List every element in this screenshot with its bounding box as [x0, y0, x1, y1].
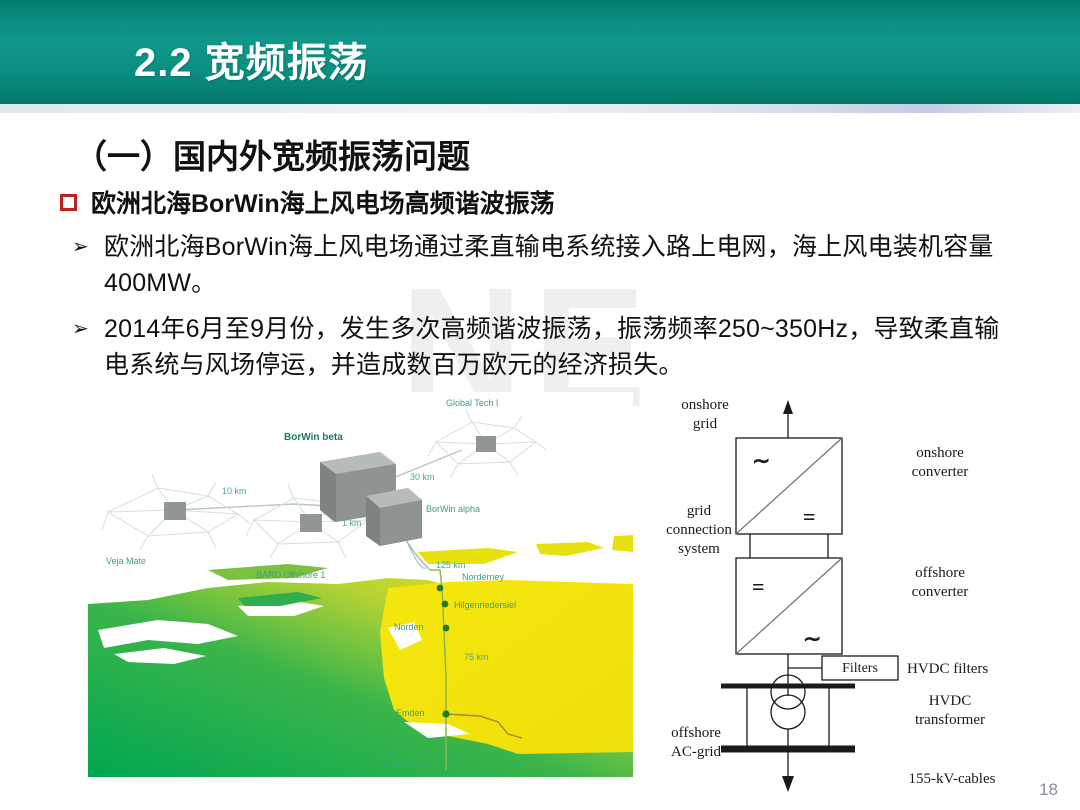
slide-header-band: 2.2 宽频振荡 [0, 0, 1080, 104]
map-platform-borwin-alpha [366, 488, 422, 546]
dc-symbol-offshore: = [752, 574, 765, 599]
page-title: 2.2 宽频振荡 [134, 30, 369, 88]
map-label-bard-offshore: BARD Offshore 1 [256, 570, 325, 580]
map-label-borwin-alpha: BorWin alpha [426, 504, 480, 514]
map-substation-bard [300, 514, 322, 532]
map-svg: Veja Mate BARD Offshore 1 Global Tech I … [88, 392, 633, 777]
map-substation-globaltech [476, 436, 496, 452]
map-place-norderney: Norderney [462, 572, 505, 582]
list-item-text: 欧洲北海BorWin海上风电场通过柔直输电系统接入路上电网，海上风电装机容量40… [104, 230, 1002, 301]
list-item-text: 2014年6月至9月份，发生多次高频谐波振荡，振荡频率250~350Hz，导致柔… [104, 312, 1017, 383]
map-label-veja-mate: Veja Mate [106, 556, 146, 566]
map-distance-10km: 10 km [222, 486, 247, 496]
hvdc-circuit-diagram: ∼ = = ∼ onshore grid onshore converter [655, 392, 1075, 792]
dc-symbol-onshore: = [803, 504, 816, 529]
sub-heading-row: 欧洲北海BorWin海上风电场高频谐波振荡 [60, 184, 555, 220]
map-distance-75km: 75 km [464, 652, 489, 662]
label-offshore-ac-grid: offshore AC-grid [641, 724, 751, 762]
map-distance-30km: 30 km [410, 472, 435, 482]
map-substation-veja [164, 502, 186, 520]
label-hvdc-filters: HVDC filters [907, 660, 1037, 679]
label-grid-connection-system: grid connection system [633, 502, 765, 558]
slide: 2.2 宽频振荡 NE www.niudunyan.com （一）国内外宽频振荡… [0, 0, 1080, 810]
list-item: ➢ 欧洲北海BorWin海上风电场通过柔直输电系统接入路上电网，海上风电装机容量… [72, 230, 1002, 301]
filters-box-label: Filters [829, 660, 891, 678]
label-offshore-converter: offshore converter [870, 564, 1010, 602]
offshore-converter-diagonal [736, 558, 842, 654]
map-place-umspannwerk: Umspannwerk [374, 760, 432, 770]
section-heading: （一）国内外宽频振荡问题 [74, 130, 470, 178]
owf-arrow-icon [782, 776, 794, 792]
square-bullet-icon [60, 194, 77, 211]
map-place-emden: Emden [396, 708, 425, 718]
map-landmass [88, 535, 633, 777]
map-distance-1km: 1 km [342, 518, 362, 528]
map-label-global-tech: Global Tech I [446, 398, 498, 408]
arrow-bullet-icon: ➢ [72, 319, 92, 339]
label-onshore-grid: onshore grid [650, 396, 760, 434]
map-place-norden: Norden [394, 622, 424, 632]
arrow-bullet-icon: ➢ [72, 237, 92, 257]
ac-symbol-offshore: ∼ [803, 626, 821, 651]
label-hvdc-transformer: HVDC transformer [880, 692, 1020, 730]
sub-heading-label: 欧洲北海BorWin海上风电场高频谐波振荡 [91, 184, 555, 220]
map-label-borwin-beta: BorWin beta [284, 432, 343, 443]
ac-symbol-onshore: ∼ [752, 448, 770, 473]
page-number: 18 [1039, 780, 1058, 800]
map-distance-125km: 125 km [436, 560, 466, 570]
onshore-grid-arrow-icon [783, 400, 793, 414]
map-place-hilgenriedersiel: Hilgenriedersiel [454, 600, 516, 610]
label-155kv-cables: 155-kV-cables [877, 770, 1027, 789]
label-onshore-converter: onshore converter [870, 444, 1010, 482]
list-item: ➢ 2014年6月至9月份，发生多次高频谐波振荡，振荡频率250~350Hz，导… [72, 312, 1017, 383]
north-sea-map-figure: Veja Mate BARD Offshore 1 Global Tech I … [88, 392, 633, 777]
